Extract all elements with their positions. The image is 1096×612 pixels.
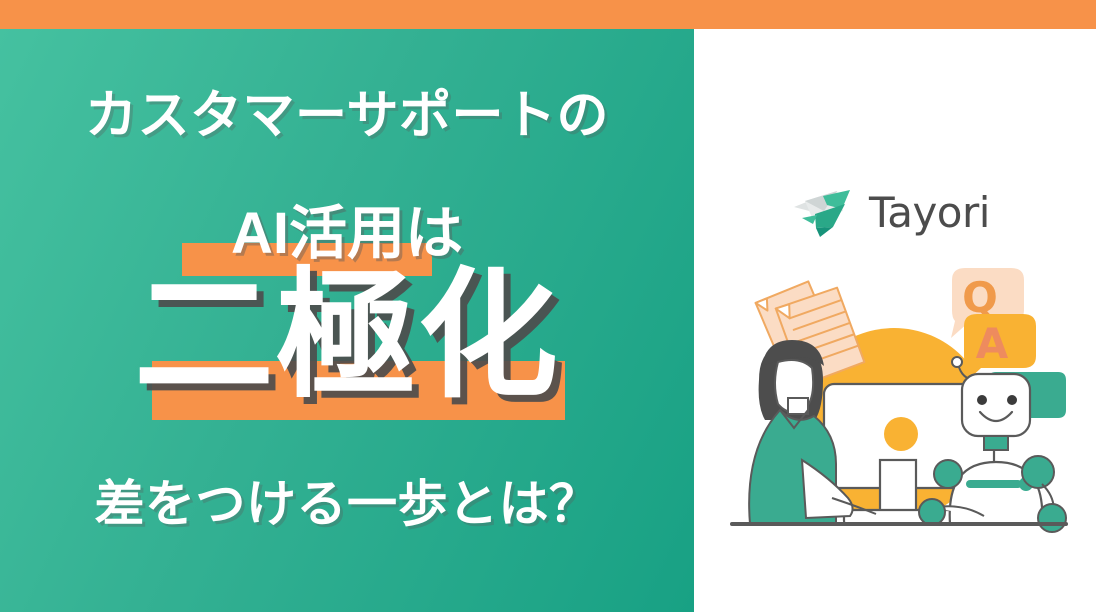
top-accent-bar (0, 0, 1096, 29)
support-ai-illustration: Q A (726, 262, 1072, 534)
tayori-logo: Tayori (793, 182, 1008, 244)
tayori-logo-text: Tayori (869, 187, 990, 239)
desk-line (730, 522, 1068, 526)
headline-line-1: カスタマーサポートの (0, 85, 694, 147)
headline-line-3: 二極化 (0, 261, 694, 411)
headline-line-4: 差をつける一歩とは？ (0, 473, 694, 535)
paper-plane-envelope-icon (793, 187, 855, 239)
headline-line-3-group: 二極化 (0, 261, 694, 461)
answer-bubble-label: A (976, 319, 1009, 368)
headline-group: カスタマーサポートの AI活用は 二極化 差をつける一歩とは？ (0, 29, 694, 612)
banner-canvas: カスタマーサポートの AI活用は 二極化 差をつける一歩とは？ (0, 0, 1096, 612)
